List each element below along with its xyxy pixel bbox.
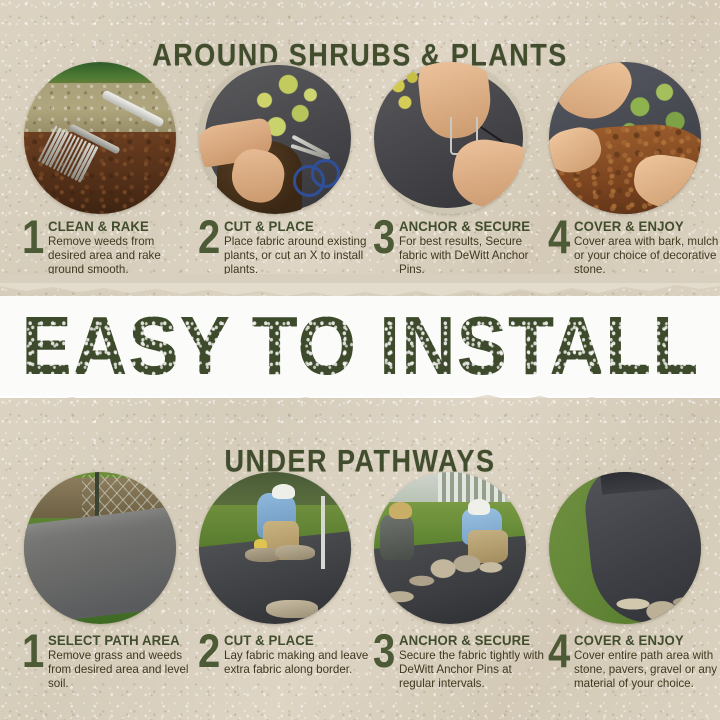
step-title: SELECT PATH AREA xyxy=(48,632,194,648)
step-shrubs-2: 2 CUT & PLACE Place fabric around existi… xyxy=(198,218,370,278)
photo-art xyxy=(549,62,701,214)
step-title: COVER & ENJOY xyxy=(574,632,720,648)
photo-rake-on-mulch xyxy=(24,62,176,214)
step-title: CLEAN & RAKE xyxy=(48,218,194,234)
step-pathways-1: 1 SELECT PATH AREA Remove grass and weed… xyxy=(22,632,194,692)
photo-art xyxy=(374,62,526,214)
step-description: Place fabric around existing plants, or … xyxy=(224,235,370,278)
photo-two-workers-placing-stones xyxy=(374,472,526,624)
photo-worker-laying-fabric xyxy=(199,472,351,624)
step-number: 3 xyxy=(373,633,399,671)
step-shrubs-4: 4 COVER & ENJOY Cover area with bark, mu… xyxy=(548,218,720,278)
step-title: COVER & ENJOY xyxy=(574,218,720,234)
step-title: CUT & PLACE xyxy=(224,632,370,648)
step-description: Cover entire path area with stone, paver… xyxy=(574,649,720,692)
step-number: 4 xyxy=(548,633,574,671)
step-pathways-3: 3 ANCHOR & SECURE Secure the fabric tigh… xyxy=(373,632,545,692)
step-description: Remove weeds from desired area and rake … xyxy=(48,235,194,278)
step-title: ANCHOR & SECURE xyxy=(399,632,545,648)
step-description: Lay fabric making and leave extra fabric… xyxy=(224,649,370,677)
photo-spreading-bark-mulch xyxy=(549,62,701,214)
step-number: 2 xyxy=(198,633,224,671)
step-number: 2 xyxy=(198,219,224,257)
step-title: ANCHOR & SECURE xyxy=(399,218,545,234)
banner-text: EASY TO INSTALL xyxy=(21,305,699,388)
step-number: 4 xyxy=(548,219,574,257)
step-shrubs-1: 1 CLEAN & RAKE Remove weeds from desired… xyxy=(22,218,194,278)
step-pathways-2: 2 CUT & PLACE Lay fabric making and leav… xyxy=(198,632,370,677)
step-description: Cover area with bark, mulch or your choi… xyxy=(574,235,720,278)
photo-art xyxy=(199,62,351,214)
step-number: 1 xyxy=(22,219,48,257)
photo-art xyxy=(374,472,526,624)
photo-fabric-roll-on-grass xyxy=(24,472,176,624)
banner-easy-to-install: EASY TO INSTALL xyxy=(0,296,720,396)
photo-art xyxy=(199,472,351,624)
step-pathways-4: 4 COVER & ENJOY Cover entire path area w… xyxy=(548,632,720,692)
photo-inserting-anchor-pin xyxy=(374,62,526,214)
step-description: Remove grass and weeds from desired area… xyxy=(48,649,194,692)
step-number: 1 xyxy=(22,633,48,671)
photo-cutting-fabric-around-shrub xyxy=(199,62,351,214)
step-description: For best results, Secure fabric with DeW… xyxy=(399,235,545,278)
photo-art xyxy=(24,472,176,624)
photo-art xyxy=(24,62,176,214)
photo-art xyxy=(549,472,701,624)
step-number: 3 xyxy=(373,219,399,257)
step-shrubs-3: 3 ANCHOR & SECURE For best results, Secu… xyxy=(373,218,545,278)
step-title: CUT & PLACE xyxy=(224,218,370,234)
infographic-poster: AROUND SHRUBS & PLANTS xyxy=(0,0,720,720)
photo-finished-stone-path xyxy=(549,472,701,624)
step-description: Secure the fabric tightly with DeWitt An… xyxy=(399,649,545,692)
